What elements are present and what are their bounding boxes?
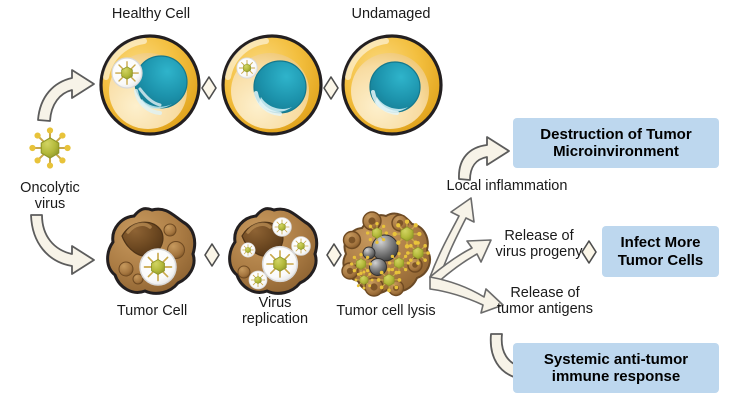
- chevron-step-icon: [205, 244, 219, 266]
- chevron-step-icon: [202, 77, 216, 99]
- chevron-step-icon: [324, 77, 338, 99]
- outcome-box-systemic-antitumor-immune-response[interactable]: Systemic anti-tumor immune response: [513, 343, 719, 393]
- label-local-inflammation: Local inflammation: [432, 178, 582, 194]
- lysing-tumor-cell-icon: [342, 212, 430, 296]
- label-tumor-cell: Tumor Cell: [97, 303, 207, 319]
- label-release-tumor-antigens: Release of tumor antigens: [486, 285, 604, 317]
- label-virus-replication: Virus replication: [224, 295, 326, 327]
- arrow-local-inflammation: [430, 198, 474, 279]
- label-release-virus-progeny: Release of virus progeny: [489, 228, 589, 260]
- healthy-cell-icon: [343, 36, 441, 134]
- label-undamaged: Undamaged: [335, 6, 447, 22]
- outcome-box-label: Systemic anti-tumor immune response: [544, 351, 688, 386]
- arrow-release-virus-progeny: [430, 240, 491, 283]
- curved-arrow-to-healthy-cell: [38, 70, 94, 121]
- outcome-box-label: Infect More Tumor Cells: [618, 234, 704, 269]
- curved-arrow-to-tumor-cell: [31, 215, 94, 274]
- oncolytic-virus-icon: [29, 127, 70, 168]
- chevron-step-icon: [327, 244, 341, 266]
- tumor-cell-icon: [108, 209, 195, 294]
- outcome-box-infect-more-tumor-cells[interactable]: Infect More Tumor Cells: [602, 226, 719, 277]
- tumor-cell-icon: [230, 209, 317, 294]
- label-oncolytic-virus: Oncolytic virus: [2, 180, 98, 212]
- label-tumor-cell-lysis: Tumor cell lysis: [320, 303, 452, 319]
- oncolytic-virus-diagram: Healthy Cell Undamaged Oncolytic virus T…: [0, 0, 729, 405]
- outcome-box-label: Destruction of Tumor Microinvironment: [540, 126, 691, 161]
- healthy-cell-icon: [223, 36, 321, 134]
- curved-arrow-to-destruction-box: [459, 137, 509, 180]
- outcome-box-destruction-tumor-microenvironment[interactable]: Destruction of Tumor Microinvironment: [513, 118, 719, 168]
- label-healthy-cell: Healthy Cell: [96, 6, 206, 22]
- healthy-cell-icon: [101, 36, 199, 134]
